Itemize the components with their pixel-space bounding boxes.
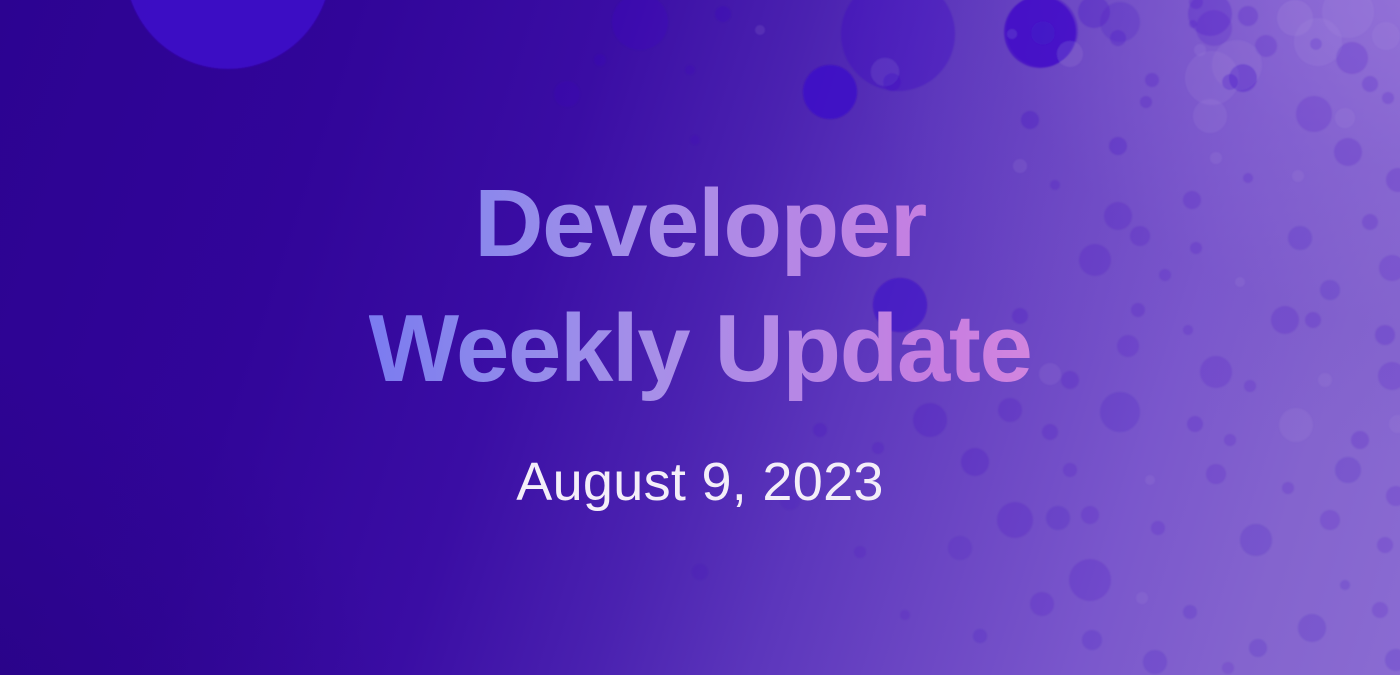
page-title: Developer Weekly Update: [369, 162, 1032, 412]
slide-content: Developer Weekly Update August 9, 2023: [0, 0, 1400, 675]
title-slide: Developer Weekly Update August 9, 2023: [0, 0, 1400, 675]
headline-line-1: Developer: [369, 162, 1032, 287]
headline-line-2: Weekly Update: [369, 287, 1032, 412]
slide-date: August 9, 2023: [516, 451, 884, 513]
